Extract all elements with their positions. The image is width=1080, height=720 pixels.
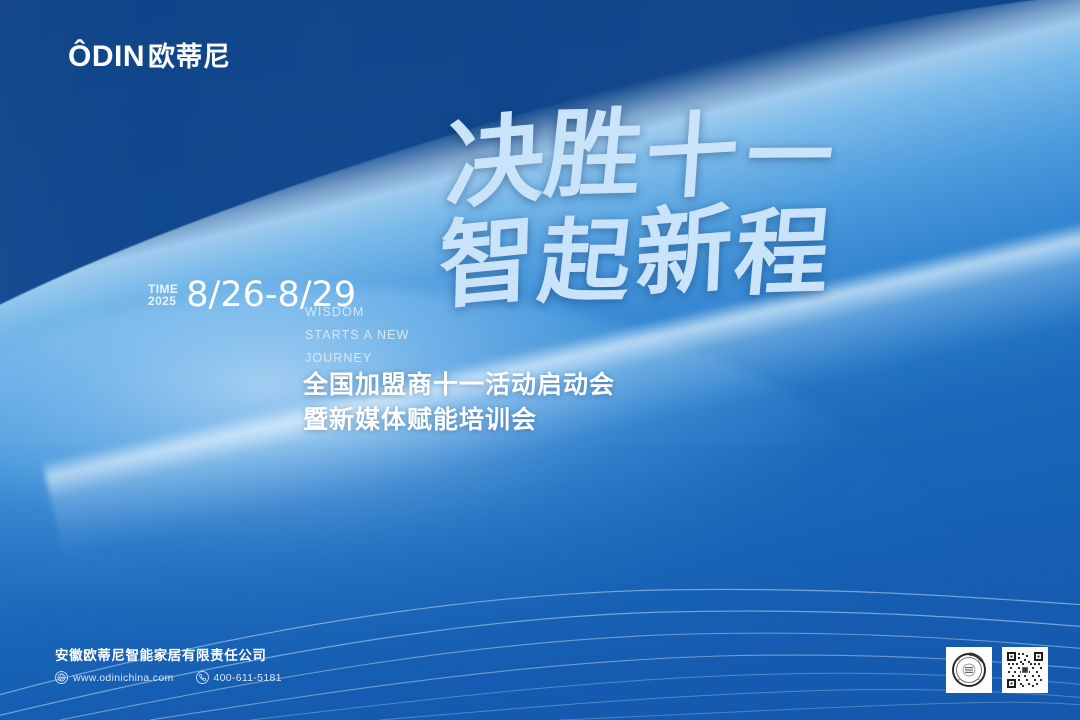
headline-char: 程	[731, 206, 836, 300]
headline-char: 十	[643, 109, 744, 203]
brand-logo: ÔDIN 欧蒂尼	[68, 42, 231, 72]
event-date-label: TIME 2025	[148, 283, 178, 308]
tagline-line-2: STARTS A NEW	[305, 324, 409, 347]
headline-line-2: 智起新程	[435, 196, 914, 310]
footer: 安徽欧蒂尼智能家居有限责任公司 www.odinichina.com	[55, 644, 282, 684]
tagline: WISDOM STARTS A NEW JOURNEY	[305, 301, 409, 370]
globe-icon	[55, 671, 68, 684]
footer-phone-text: 400-611-5181	[214, 672, 282, 684]
footer-phone[interactable]: 400-611-5181	[196, 671, 282, 684]
headline-char: 决	[444, 110, 548, 214]
event-subtitle-line-1: 全国加盟商十一活动启动会	[303, 368, 615, 403]
company-seal-code[interactable]	[946, 647, 992, 693]
headline-char: 一	[742, 114, 840, 198]
footer-company-name: 安徽欧蒂尼智能家居有限责任公司	[55, 644, 282, 664]
event-date-label-year: 2025	[148, 295, 178, 308]
event-subtitle-line-2: 暨新媒体赋能培训会	[303, 403, 615, 438]
tagline-line-3: JOURNEY	[305, 347, 409, 370]
tagline-line-1: WISDOM	[305, 301, 409, 324]
wechat-qr-code[interactable]	[1002, 647, 1048, 693]
headline-char: 智	[438, 211, 539, 313]
brand-logo-latin: ÔDIN	[68, 42, 145, 72]
event-subtitle: 全国加盟商十一活动启动会 暨新媒体赋能培训会	[303, 368, 615, 437]
headline-line-1: 决胜十一	[443, 99, 915, 210]
code-tiles	[946, 647, 1048, 693]
poster-canvas: ÔDIN 欧蒂尼 决胜十一 智起新程 TIME 2025 8/26-8/29 W…	[0, 0, 1080, 720]
headline-char: 胜	[541, 106, 649, 201]
footer-website-text: www.odinichina.com	[73, 672, 174, 684]
headline: 决胜十一 智起新程	[440, 108, 910, 300]
phone-icon	[196, 671, 209, 684]
brand-logo-chinese: 欧蒂尼	[148, 44, 231, 71]
headline-char: 新	[634, 201, 737, 302]
footer-website[interactable]: www.odinichina.com	[55, 671, 174, 684]
headline-char: 起	[535, 217, 638, 306]
footer-contacts: www.odinichina.com 400-611-5181	[55, 671, 282, 684]
